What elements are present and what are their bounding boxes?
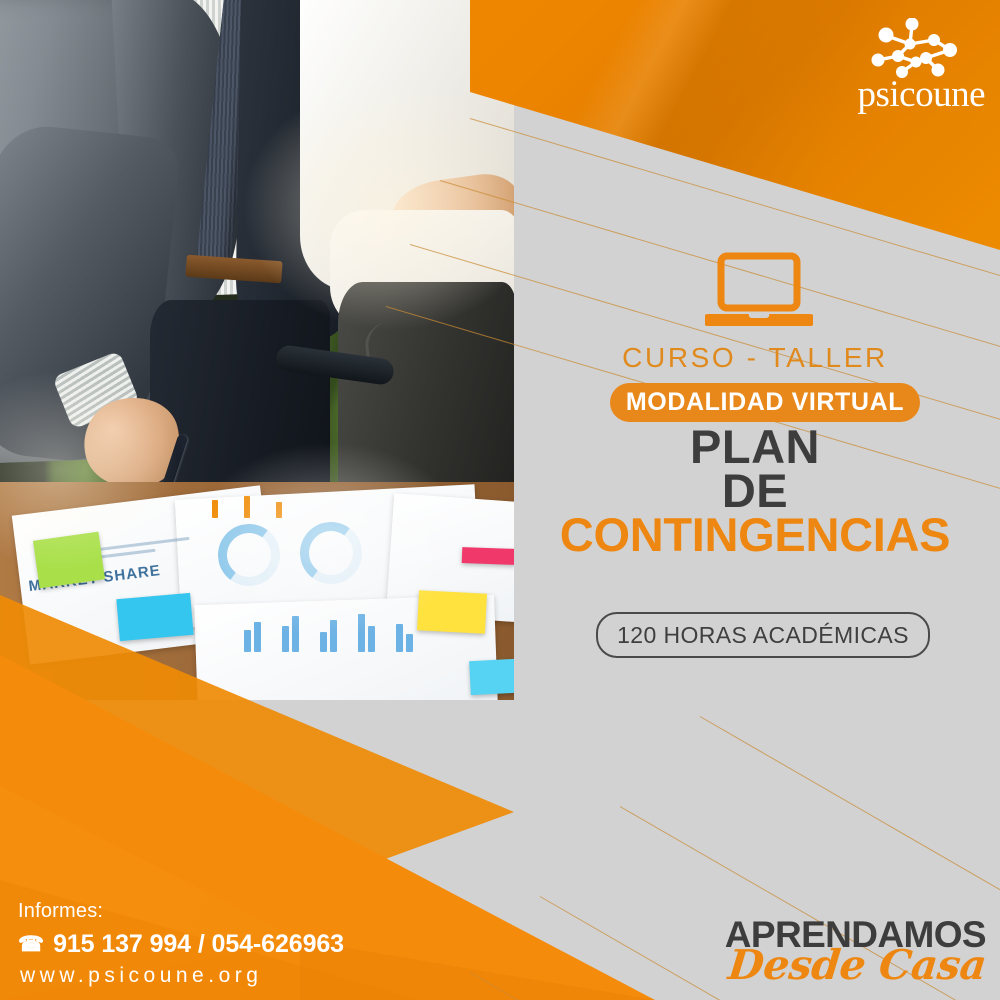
title-line-3: CONTINGENCIAS <box>510 513 1000 557</box>
photo-sticky-note <box>33 532 105 589</box>
laptop-icon <box>705 252 813 330</box>
photo-bar <box>282 626 289 652</box>
phone-icon: ☎ <box>18 934 44 955</box>
modality-badge: MODALIDAD VIRTUAL <box>610 383 920 422</box>
hero-content: CURSO - TALLER MODALIDAD VIRTUAL PLAN DE… <box>510 0 1000 1000</box>
photo-bar <box>358 614 365 652</box>
title-line-1: PLAN <box>510 425 1000 469</box>
photo-sticky-note <box>469 659 514 695</box>
hours-badge: 120 HORAS ACADÉMICAS <box>596 612 930 658</box>
photo-sticky-note <box>116 593 193 641</box>
photo-bar <box>276 502 282 518</box>
tagline-block: APRENDAMOS Desde Casa <box>638 916 986 985</box>
modality-badge-label: MODALIDAD VIRTUAL <box>626 388 904 417</box>
eyebrow-text: CURSO - TALLER <box>510 342 1000 374</box>
contact-block: Informes: ☎ 915 137 994 / 054-626963 www… <box>18 900 438 988</box>
contact-label: Informes: <box>18 900 438 923</box>
contact-phone-numbers: 915 137 994 / 054-626963 <box>53 930 344 959</box>
photo-bar <box>406 634 413 652</box>
tagline-line-2: Desde Casa <box>636 947 988 985</box>
photo-bar <box>244 630 251 652</box>
title-line-2: DE <box>510 469 1000 513</box>
photo-bar <box>320 632 327 652</box>
photo-bar <box>212 500 218 518</box>
course-title: PLAN DE CONTINGENCIAS <box>510 425 1000 558</box>
photo-bar <box>368 626 375 652</box>
photo-sticky-note <box>462 547 514 565</box>
contact-website[interactable]: www.psicoune.org <box>20 964 438 988</box>
photo-bar <box>292 616 299 652</box>
photo-bar <box>330 620 337 652</box>
promo-poster: MARKET SHARE <box>0 0 1000 1000</box>
hours-badge-label: 120 HORAS ACADÉMICAS <box>617 622 909 649</box>
photo-sticky-note <box>417 590 487 634</box>
hero-photo: MARKET SHARE <box>0 0 514 700</box>
photo-bar <box>254 622 261 652</box>
photo-bar <box>396 624 403 652</box>
contact-phone-row[interactable]: ☎ 915 137 994 / 054-626963 <box>18 930 438 959</box>
photo-bar <box>244 496 250 518</box>
